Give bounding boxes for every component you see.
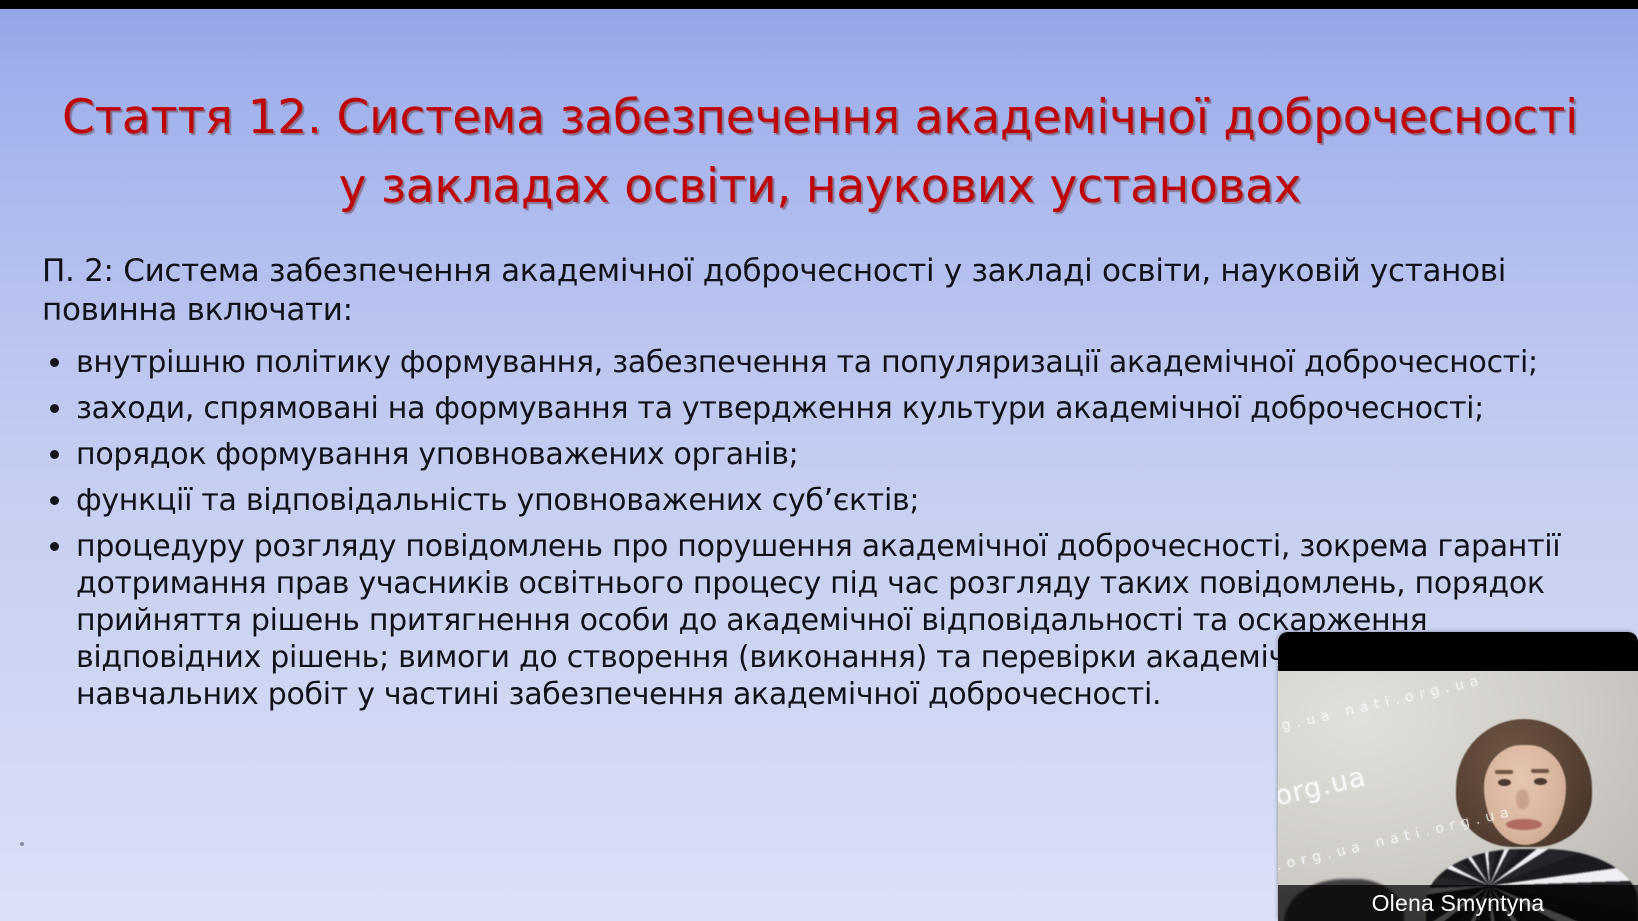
corner-speck: [20, 842, 24, 846]
bullet-dot-icon: [50, 450, 59, 459]
bullet-dot-icon: [50, 404, 59, 413]
participant-video-tile[interactable]: nati.org.ua nati.org.ua nati.org.ua nati…: [1278, 632, 1638, 921]
list-item-label: внутрішню політику формування, забезпече…: [76, 345, 1538, 380]
list-item: порядок формування уповноважених органів…: [42, 436, 1602, 473]
list-item-label: функції та відповідальність уповноважени…: [76, 483, 919, 518]
eyebrow-right-shape: [1531, 769, 1549, 773]
video-frame: nati.org.ua nati.org.ua nati.org.ua nati…: [1278, 671, 1638, 921]
bullet-dot-icon: [50, 358, 59, 367]
list-item: заходи, спрямовані на формування та утве…: [42, 390, 1602, 427]
list-item-label: заходи, спрямовані на формування та утве…: [76, 391, 1484, 426]
lead-paragraph: П. 2: Система забезпечення академічної д…: [42, 252, 1602, 330]
participant-name-label: Olena Smyntyna: [1372, 890, 1545, 917]
bullet-dot-icon: [50, 496, 59, 505]
nose-shape: [1516, 789, 1529, 809]
eye-right-shape: [1534, 778, 1547, 785]
letterbox-top-bar: [0, 0, 1638, 9]
eye-left-shape: [1498, 779, 1511, 786]
list-item: внутрішню політику формування, забезпече…: [42, 344, 1602, 381]
slide-viewer: Стаття 12. Система забезпечення академіч…: [0, 0, 1638, 921]
slide-title: Стаття 12. Система забезпечення академіч…: [60, 83, 1580, 221]
list-item: функції та відповідальність уповноважени…: [42, 482, 1602, 519]
participant-name-bar: Olena Smyntyna: [1278, 885, 1638, 921]
mouth-shape: [1506, 819, 1542, 830]
bullet-dot-icon: [50, 542, 59, 551]
list-item-label: порядок формування уповноважених органів…: [76, 437, 798, 472]
eyebrow-left-shape: [1495, 770, 1513, 774]
